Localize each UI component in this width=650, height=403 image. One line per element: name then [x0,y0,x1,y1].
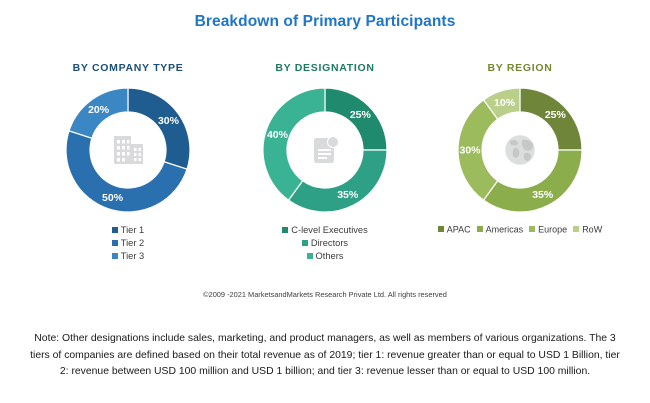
note-text: Note: Other designations include sales, … [28,331,622,381]
donut-percent-label: 25% [545,109,567,121]
legend-swatch-icon [282,227,288,233]
legend-item[interactable]: Tier 3 [28,250,228,263]
legend-label: C-level Executives [291,225,367,235]
legend-swatch-icon [302,240,308,246]
donut-svg-designation: 25%35%40% [255,80,395,220]
donut-hole [482,112,558,188]
legend-swatch-icon [477,226,483,232]
legend-item[interactable]: APAC [438,224,471,235]
legend-item[interactable]: C-level Executives [225,224,425,237]
chart-title-designation: BY DESIGNATION [225,62,425,74]
chart-title-region: BY REGION [420,62,620,74]
legend-swatch-icon [573,226,579,232]
legend-label: Others [316,251,344,261]
legend-swatch-icon [112,227,118,233]
donut-percent-label: 20% [88,104,110,116]
donut-hole [287,112,363,188]
donut-percent-label: 30% [158,115,180,127]
legend-label: Directors [311,238,348,248]
legend-company-type: Tier 1Tier 2Tier 3 [28,224,228,263]
legend-swatch-icon [112,240,118,246]
legend-label: Tier 1 [121,225,144,235]
legend-label: Americas [486,225,524,235]
donut-percent-label: 50% [102,192,124,204]
legend-swatch-icon [438,226,444,232]
donut-hole [90,112,166,188]
donut-chart-company-type: 30%50%20% [28,80,228,220]
chart-panel-region: BY REGION 25%35%30%10% APACAmericasEurop… [420,62,620,235]
donut-svg-region: 25%35%30%10% [450,80,590,220]
legend-item[interactable]: Others [225,250,425,263]
donut-percent-label: 10% [494,97,516,109]
donut-svg-company-type: 30%50%20% [58,80,198,220]
chart-panel-company-type: BY COMPANY TYPE 30%50%20% [28,62,228,263]
legend-item[interactable]: Tier 1 [28,224,228,237]
donut-percent-label: 30% [459,145,481,157]
donut-percent-label: 35% [532,189,554,201]
chart-panel-designation: BY DESIGNATION 25%35%40% C-level Executi… [225,62,425,263]
legend-label: APAC [447,225,471,235]
donut-chart-region: 25%35%30%10% [420,80,620,220]
donut-percent-label: 40% [267,129,289,141]
legend-designation: C-level ExecutivesDirectorsOthers [225,224,425,263]
legend-label: Tier 2 [121,238,144,248]
legend-label: Tier 3 [121,251,144,261]
donut-chart-designation: 25%35%40% [225,80,425,220]
legend-item[interactable]: Directors [225,237,425,250]
legend-label: RoW [582,225,602,235]
legend-swatch-icon [529,226,535,232]
legend-region: APACAmericasEuropeRoW [420,224,620,235]
donut-percent-label: 25% [350,109,372,121]
legend-item[interactable]: Americas [477,224,524,235]
legend-item[interactable]: RoW [573,224,602,235]
chart-title-company-type: BY COMPANY TYPE [28,62,228,74]
copyright-text: ©2009 -2021 MarketsandMarkets Research P… [0,290,650,299]
legend-item[interactable]: Europe [529,224,567,235]
legend-item[interactable]: Tier 2 [28,237,228,250]
legend-swatch-icon [307,253,313,259]
legend-label: Europe [538,225,567,235]
page-title: Breakdown of Primary Participants [0,13,650,31]
donut-percent-label: 35% [337,189,359,201]
legend-swatch-icon [112,253,118,259]
